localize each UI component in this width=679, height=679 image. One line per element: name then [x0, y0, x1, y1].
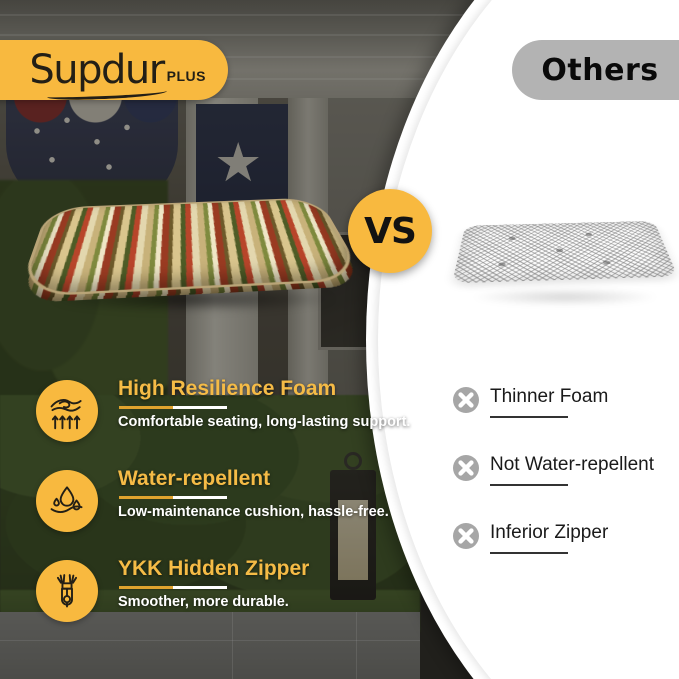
- product-cushion-image: [21, 199, 362, 295]
- cushion-tuft: [585, 233, 592, 237]
- cushion-tuft: [509, 237, 516, 241]
- x-circle-icon: [452, 522, 480, 550]
- brand-suffix: PLUS: [167, 68, 206, 84]
- foam-resilience-icon: [36, 380, 98, 442]
- other-cushion-shadow: [470, 288, 660, 306]
- feature-text-block: High Resilience Foam Comfortable seating…: [118, 376, 418, 430]
- drawback-item: Not Water-repellent: [452, 452, 679, 520]
- feature-divider: [119, 586, 227, 589]
- drawback-divider: [490, 416, 568, 418]
- brand-name: Supdur: [29, 50, 163, 90]
- drawback-title: Thinner Foam: [490, 384, 608, 410]
- drawback-divider: [490, 484, 568, 486]
- feature-item: YKK Hidden Zipper Smoother, more durable…: [36, 556, 376, 646]
- feature-subtitle: Comfortable seating, long-lasting suppor…: [118, 414, 418, 430]
- drawback-title: Inferior Zipper: [490, 520, 608, 546]
- drawback-text-block: Thinner Foam: [490, 384, 608, 418]
- feature-text-block: Water-repellent Low-maintenance cushion,…: [118, 466, 418, 520]
- feature-item: High Resilience Foam Comfortable seating…: [36, 376, 376, 466]
- feature-subtitle: Smoother, more durable.: [118, 594, 418, 610]
- feature-title: YKK Hidden Zipper: [118, 556, 418, 581]
- drawback-item: Thinner Foam: [452, 384, 679, 452]
- feature-item: Water-repellent Low-maintenance cushion,…: [36, 466, 376, 556]
- feature-title: Water-repellent: [118, 466, 418, 491]
- drawback-divider: [490, 552, 568, 554]
- cushion-tuft: [556, 248, 563, 252]
- brand-logo-pill: Supdur PLUS: [0, 40, 228, 100]
- brand-wordmark: Supdur PLUS: [29, 50, 206, 90]
- other-cushion-image: [452, 221, 678, 283]
- feature-divider: [119, 406, 227, 409]
- comparison-infographic: Supdur PLUS Others VS High Resilienc: [0, 0, 679, 679]
- competitor-drawback-list: Thinner Foam Not Water-repellent: [452, 384, 679, 588]
- feature-divider: [119, 496, 227, 499]
- drawback-item: Inferior Zipper: [452, 520, 679, 588]
- feature-title: High Resilience Foam: [118, 376, 418, 401]
- x-circle-icon: [452, 454, 480, 482]
- x-circle-icon: [452, 386, 480, 414]
- cushion-tuft: [603, 260, 611, 264]
- feature-list: High Resilience Foam Comfortable seating…: [36, 376, 376, 646]
- drawback-text-block: Inferior Zipper: [490, 520, 608, 554]
- competitor-badge: Others: [512, 40, 679, 100]
- drawback-title: Not Water-repellent: [490, 452, 654, 478]
- versus-badge: VS: [348, 189, 432, 273]
- water-drop-icon: [36, 470, 98, 532]
- cushion-tuft: [498, 262, 506, 266]
- feature-text-block: YKK Hidden Zipper Smoother, more durable…: [118, 556, 418, 610]
- versus-label: VS: [364, 211, 416, 252]
- competitor-label: Others: [541, 53, 658, 88]
- zipper-icon: [36, 560, 98, 622]
- feature-subtitle: Low-maintenance cushion, hassle-free.: [118, 504, 418, 520]
- drawback-text-block: Not Water-repellent: [490, 452, 654, 486]
